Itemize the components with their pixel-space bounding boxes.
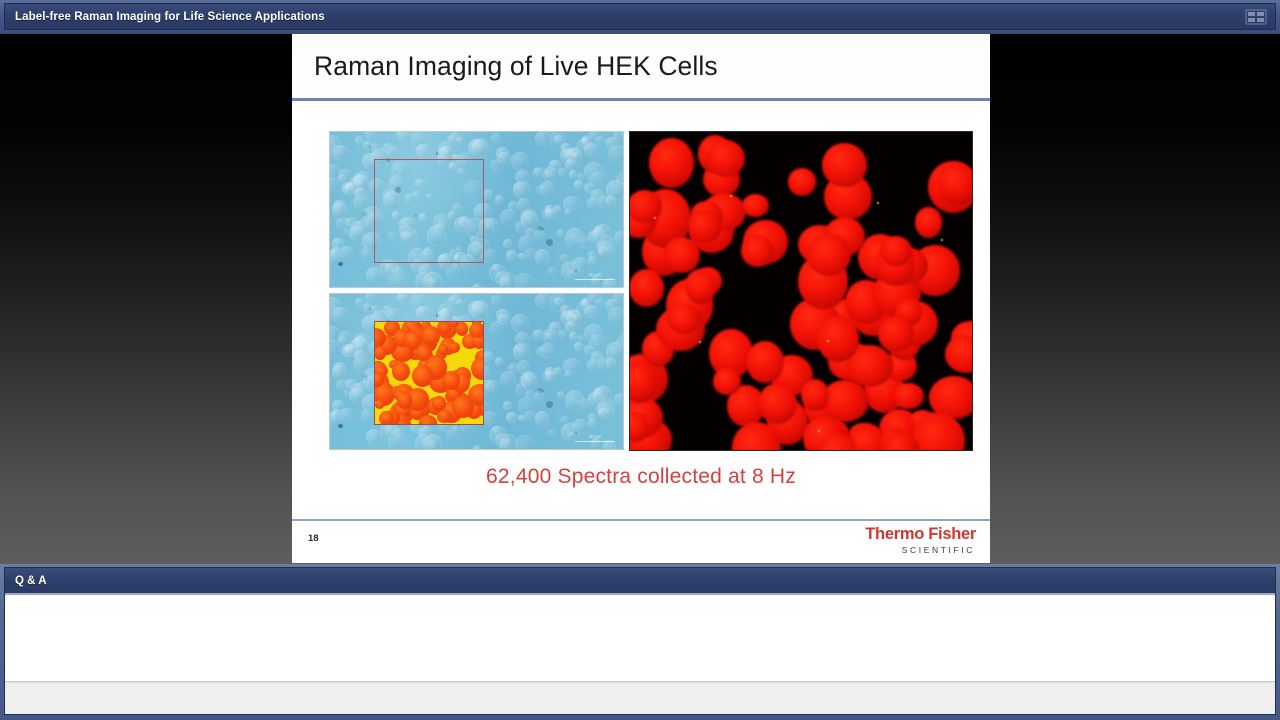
raman-signal-blob (412, 365, 433, 387)
bright-spot (699, 341, 701, 343)
raman-cell (938, 163, 973, 205)
slide-footer: 18 Thermo Fisher SCIENTIFIC (292, 519, 990, 563)
cell (338, 174, 347, 182)
cell (613, 293, 624, 304)
cell (535, 411, 549, 427)
cell (495, 195, 503, 204)
window-title-bar-inner: Label-free Raman Imaging for Life Scienc… (4, 3, 1276, 30)
raman-signal-blob (471, 357, 484, 380)
cell (331, 409, 341, 419)
cell (483, 351, 494, 362)
bright-spot (654, 217, 656, 219)
qa-panel-header[interactable]: Q & A (5, 568, 1275, 595)
cell (506, 250, 517, 261)
debris-speck (436, 152, 438, 154)
raman-cell (822, 143, 867, 187)
raman-signal-blob (374, 346, 386, 359)
qa-panel-title: Q & A (5, 575, 47, 587)
scale-bar: 20 µm (575, 273, 615, 281)
cell (565, 390, 583, 411)
bright-spot (818, 430, 820, 432)
debris-speck (338, 424, 343, 428)
cell (545, 371, 556, 380)
cell (355, 381, 373, 397)
cell (415, 272, 431, 288)
scale-bar-line (575, 279, 615, 281)
brightfield-with-roi-image: 20 µm (329, 131, 624, 288)
raman-cell (945, 335, 973, 372)
raman-signal-blob (449, 342, 461, 353)
slide-body: 20 µm 20 µm (292, 101, 990, 519)
cell (565, 228, 583, 249)
raman-signal-blob (469, 323, 484, 338)
raman-cell (667, 304, 702, 334)
cell (333, 200, 345, 213)
slide-title: Raman Imaging of Live HEK Cells (314, 51, 718, 82)
scale-bar-label: 20 µm (589, 272, 602, 277)
cell (508, 363, 518, 373)
cell (589, 172, 607, 188)
brightfield-with-raman-overlay-image: 20 µm (329, 293, 624, 450)
cell (560, 305, 569, 313)
cell (549, 160, 561, 171)
region-of-interest-box (374, 159, 484, 263)
cell (491, 133, 501, 143)
cell (511, 152, 528, 170)
cell (518, 415, 524, 421)
cell (587, 197, 600, 209)
cell (355, 219, 373, 235)
debris-speck (338, 262, 343, 266)
cell (365, 131, 376, 139)
raman-signal-blob (375, 400, 385, 409)
cell (343, 390, 349, 396)
raman-cell (807, 234, 851, 276)
cell (554, 297, 563, 305)
thermo-fisher-logo: Thermo Fisher SCIENTIFIC (865, 526, 976, 554)
cell (515, 435, 534, 450)
raman-cell (706, 140, 745, 177)
raman-signal-blob (422, 326, 441, 346)
cell (598, 408, 609, 419)
window-title-bar: Label-free Raman Imaging for Life Scienc… (0, 0, 1280, 34)
raman-signal-blob (392, 362, 410, 381)
raman-cell (664, 237, 700, 273)
cell (497, 314, 511, 326)
cell (613, 131, 624, 142)
raman-cell (629, 190, 662, 222)
qa-input-area[interactable] (5, 682, 1275, 714)
logo-secondary-text: SCIENTIFIC (865, 546, 976, 555)
cell (574, 342, 583, 351)
slide-page-number: 18 (308, 533, 319, 544)
cell (447, 135, 455, 143)
cell (565, 321, 577, 332)
raman-signal-blob (419, 415, 438, 425)
cell (576, 139, 592, 155)
raman-signal-blob (397, 392, 412, 408)
bright-spot (877, 202, 879, 204)
cell (595, 298, 605, 307)
qa-panel: Q & A (4, 567, 1276, 715)
cell (472, 300, 489, 320)
cell (338, 336, 347, 344)
raman-chemical-image (629, 131, 973, 451)
cell (594, 388, 604, 397)
cell (456, 137, 463, 143)
bright-spot (730, 195, 732, 197)
debris-speck (436, 314, 438, 316)
cell (333, 145, 349, 161)
raman-signal-blob (452, 396, 474, 418)
raman-cell (878, 316, 914, 353)
cell (340, 246, 352, 259)
cell (397, 293, 411, 303)
cell (333, 362, 345, 375)
cell (383, 305, 392, 314)
scale-bar: 20 µm (575, 435, 615, 443)
cell (340, 408, 352, 421)
cell (587, 359, 600, 371)
cell (606, 357, 616, 368)
cell (557, 391, 564, 399)
cell (545, 209, 556, 218)
cell (569, 332, 577, 340)
cell (354, 188, 366, 199)
cell (577, 173, 584, 180)
cell (416, 144, 429, 157)
cell (365, 293, 376, 301)
cell (371, 143, 380, 152)
window-title: Label-free Raman Imaging for Life Scienc… (5, 11, 325, 23)
debris-speck (546, 401, 553, 408)
cell (606, 195, 616, 206)
cell (331, 247, 341, 257)
cell (545, 170, 552, 177)
cell (614, 393, 624, 405)
cell (614, 231, 624, 243)
cell (518, 253, 524, 259)
cell (515, 221, 526, 233)
raman-cell (801, 379, 829, 411)
qa-message-list[interactable] (5, 595, 1275, 682)
figure-caption: 62,400 Spectra collected at 8 Hz (292, 465, 990, 489)
logo-primary-text: Thermo Fisher (865, 526, 976, 543)
cell (333, 307, 349, 323)
cell (557, 229, 564, 237)
raman-cell (788, 168, 816, 195)
cell (491, 295, 501, 305)
cell (535, 249, 549, 265)
raman-cell (713, 368, 741, 394)
cell (416, 306, 429, 319)
cell (473, 445, 482, 450)
raman-cell (742, 194, 769, 217)
cell (371, 305, 380, 314)
scale-bar-line (575, 441, 615, 443)
cell (535, 293, 552, 308)
cell (558, 330, 567, 338)
raman-cell (741, 235, 774, 267)
cell (536, 347, 544, 357)
cell (495, 357, 503, 366)
raman-signal-blob (438, 344, 448, 355)
cell (548, 429, 556, 436)
cell (473, 283, 482, 288)
cell (598, 246, 609, 257)
cell (589, 334, 607, 350)
webinar-grid-icon[interactable] (1243, 7, 1269, 27)
webinar-viewer: Label-free Raman Imaging for Life Scienc… (0, 0, 1280, 720)
raman-cell (880, 236, 912, 266)
cell (506, 412, 517, 423)
cell (511, 314, 528, 332)
cell (515, 273, 534, 288)
cell (355, 298, 362, 306)
slide-stage: Raman Imaging of Live HEK Cells 20 µm (0, 34, 1280, 564)
cell (595, 136, 605, 145)
cell (608, 307, 624, 326)
raman-cell (685, 269, 716, 303)
cell (594, 226, 604, 235)
raman-signal-blob (379, 411, 394, 425)
bright-spot (941, 239, 943, 241)
cell (489, 426, 508, 443)
cell (576, 301, 592, 317)
cell (472, 138, 489, 158)
cell (497, 152, 511, 164)
cell (548, 267, 556, 274)
raman-cell (817, 316, 859, 362)
cell (574, 180, 583, 189)
cell (536, 185, 544, 195)
cell (608, 145, 624, 164)
cell (489, 264, 508, 281)
brightfield-column: 20 µm 20 µm (329, 131, 624, 451)
cell (397, 131, 411, 141)
cell (447, 297, 455, 305)
raman-cell (629, 269, 664, 307)
raman-cell (649, 138, 693, 188)
cell (456, 299, 463, 305)
cell (588, 251, 595, 259)
presentation-slide: Raman Imaging of Live HEK Cells 20 µm (292, 34, 990, 563)
cell (513, 182, 526, 195)
qa-panel-container: Q & A (0, 564, 1280, 720)
raman-cell (915, 207, 943, 238)
cell (508, 201, 518, 211)
figure-group: 20 µm 20 µm (329, 131, 973, 451)
debris-speck (546, 239, 553, 246)
cell (415, 434, 431, 450)
cell (515, 170, 530, 183)
cell (355, 136, 362, 144)
scale-bar-label: 20 µm (589, 434, 602, 439)
cell (354, 350, 366, 361)
cell (577, 335, 584, 342)
cell (513, 344, 526, 357)
cell (565, 159, 577, 170)
cell (515, 383, 526, 395)
cell (383, 143, 392, 152)
raman-cell (893, 383, 923, 409)
cell (515, 332, 530, 345)
cell (558, 168, 567, 176)
cell (545, 332, 552, 339)
cell (532, 330, 544, 341)
raman-signal-blob (416, 345, 430, 360)
cell (532, 168, 544, 179)
cell (535, 131, 552, 146)
cell (483, 189, 494, 200)
raman-signal-blob (439, 322, 451, 334)
raman-chemical-overlay (374, 321, 484, 425)
slide-title-area: Raman Imaging of Live HEK Cells (292, 34, 990, 98)
cell (564, 209, 571, 215)
cell (564, 371, 571, 377)
cell (343, 228, 349, 234)
cell (503, 239, 512, 248)
cell (549, 322, 561, 333)
cell (569, 170, 577, 178)
cell (588, 413, 595, 421)
cell (560, 143, 569, 151)
cell (554, 135, 563, 143)
cell (503, 401, 512, 410)
